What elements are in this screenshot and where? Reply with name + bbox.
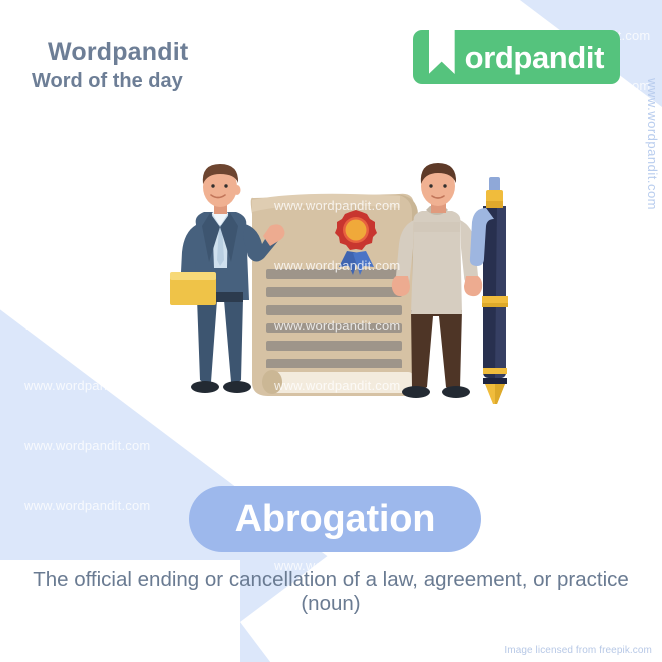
bookmark-icon bbox=[429, 30, 455, 74]
brand-subtitle: Word of the day bbox=[32, 70, 183, 93]
image-credit: Image licensed from freepik.com bbox=[504, 645, 652, 656]
illustration-legal-document bbox=[0, 0, 662, 662]
wax-seal-icon bbox=[335, 210, 377, 275]
word-badge: Abrogation bbox=[189, 486, 481, 552]
logo-label: ordpandit bbox=[465, 42, 604, 73]
part-of-speech: (noun) bbox=[0, 592, 662, 616]
word-definition: The official ending or cancellation of a… bbox=[0, 566, 662, 594]
parchment-scroll bbox=[251, 194, 418, 396]
brand-title: Wordpandit bbox=[48, 38, 188, 67]
wordpandit-logo[interactable]: ordpandit bbox=[413, 30, 620, 84]
word-term: Abrogation bbox=[235, 498, 436, 541]
word-of-the-day-card: www.wordpandit.com www.wordpandit.com ww… bbox=[0, 0, 662, 662]
